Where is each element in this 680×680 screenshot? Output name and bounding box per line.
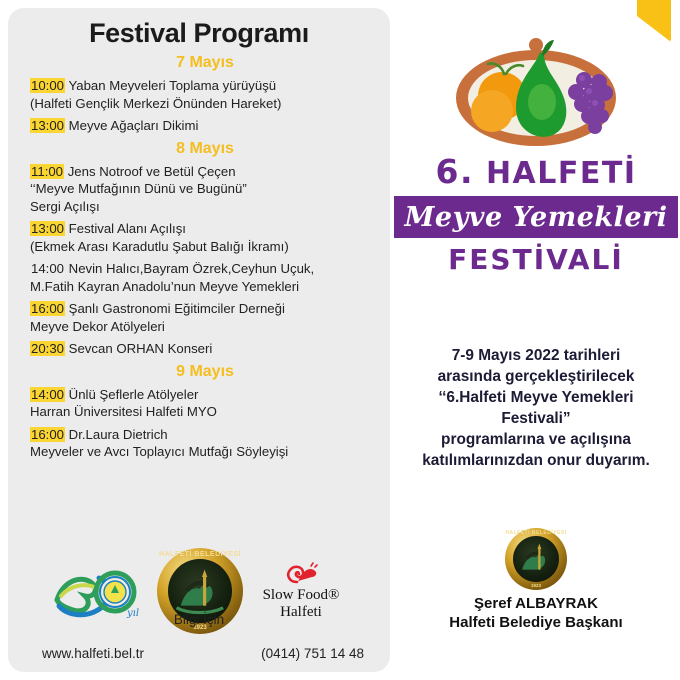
entry-time: 11:00 xyxy=(30,164,64,179)
entry-time: 16:00 xyxy=(30,427,65,442)
signatory-role: Halfeti Belediye Başkanı xyxy=(392,613,680,632)
program-line: 16:00 Dr.Laura Dietrich xyxy=(30,426,380,444)
entry-text: Jens Notroof ve Betül Çeçen xyxy=(64,164,236,179)
program-line: 14:00 Ünlü Şeflerle Atölyeler xyxy=(30,386,380,404)
snail-icon xyxy=(284,562,318,585)
invitation-line: katılımlarınızdan onur duyarım. xyxy=(398,450,674,471)
program-entry: 14:00 Nevin Halıcı,Bayram Özrek,Ceyhun U… xyxy=(30,260,380,295)
invitation-line: arasında gerçekleştirilecek xyxy=(398,366,674,387)
festival-branding-column: 6. HALFETİ Meyve Yemekleri FESTİVALİ 7-9… xyxy=(392,0,680,680)
program-line: M.Fatih Kayran Anadolu’nun Meyve Yemekle… xyxy=(30,278,380,296)
program-entry: 10:00 Yaban Meyveleri Toplama yürüyüşü(H… xyxy=(30,77,380,112)
program-panel: Festival Programı 7 Mayıs10:00 Yaban Mey… xyxy=(8,8,390,672)
program-line: Sergi Açılışı xyxy=(30,198,380,216)
invitation-text: 7-9 Mayıs 2022 tarihleriarasında gerçekl… xyxy=(398,345,674,471)
entry-time: 14:00 xyxy=(30,261,65,276)
entry-text: Dr.Laura Dietrich xyxy=(65,427,168,442)
contact-row: www.halfeti.bel.tr (0414) 751 14 48 xyxy=(8,646,390,661)
program-line: 10:00 Yaban Meyveleri Toplama yürüyüşü xyxy=(30,77,380,95)
entry-time: 16:00 xyxy=(30,301,65,316)
program-line: (Ekmek Arası Karadutlu Şabut Balığı İkra… xyxy=(30,238,380,256)
program-entry: 16:00 Dr.Laura Dietrich Meyveler ve Avcı… xyxy=(30,426,380,461)
signatory-name: Şeref ALBAYRAK xyxy=(392,594,680,613)
program-line: Harran Üniversitesi Halfeti MYO xyxy=(30,403,380,421)
bilgi-icin-label: Bilgi İçin xyxy=(8,612,390,627)
entry-text: Şanlı Gastronomi Eğitimciler Derneği xyxy=(65,301,285,316)
festival-edition-title: 6. HALFETİ xyxy=(392,152,680,191)
seal-top-text: HALFETİ BELEDİYESİ xyxy=(157,551,243,558)
entry-text: Sevcan ORHAN Konseri xyxy=(65,341,212,356)
entry-text: Ünlü Şeflerle Atölyeler xyxy=(65,387,198,402)
program-line: 11:00 Jens Notroof ve Betül Çeçen xyxy=(30,163,380,181)
signature-municipality-seal-icon: HALFETİ BELEDİYESİ 1923 xyxy=(505,528,567,590)
fruit-bowl-icon xyxy=(444,36,629,154)
program-entry: 14:00 Ünlü Şeflerle AtölyelerHarran Üniv… xyxy=(30,386,380,421)
entry-time: 20:30 xyxy=(30,341,65,356)
entry-time: 13:00 xyxy=(30,118,65,133)
program-line: 14:00 Nevin Halıcı,Bayram Özrek,Ceyhun U… xyxy=(30,260,380,278)
banner-text: Meyve Yemekleri xyxy=(405,202,668,233)
signature-seal-year: 1923 xyxy=(505,583,567,588)
program-line: 16:00 Şanlı Gastronomi Eğitimciler Derne… xyxy=(30,300,380,318)
entry-text: Meyve Ağaçları Dikimi xyxy=(65,118,198,133)
day-heading: 9 Mayıs xyxy=(30,363,380,381)
edition-number: 6. xyxy=(435,152,474,191)
program-entry: 13:00 Meyve Ağaçları Dikimi xyxy=(30,117,380,135)
phone-number[interactable]: (0414) 751 14 48 xyxy=(261,646,364,661)
program-line: 13:00 Meyve Ağaçları Dikimi xyxy=(30,117,380,135)
program-entry: 20:30 Sevcan ORHAN Konseri xyxy=(30,340,380,358)
program-list: 7 Mayıs10:00 Yaban Meyveleri Toplama yür… xyxy=(8,54,390,461)
page-title: Festival Programı xyxy=(8,8,390,49)
slowfood-line1: Slow Food® xyxy=(253,587,349,604)
signature-block: Şeref ALBAYRAK Halfeti Belediye Başkanı xyxy=(392,594,680,632)
program-entry: 16:00 Şanlı Gastronomi Eğitimciler Derne… xyxy=(30,300,380,335)
signature-seal-top-text: HALFETİ BELEDİYESİ xyxy=(505,530,567,536)
day-heading: 7 Mayıs xyxy=(30,54,380,72)
entry-time: 13:00 xyxy=(30,221,65,236)
halfeti-word: HALFETİ xyxy=(486,156,637,191)
invitation-line: Festivali” xyxy=(398,408,674,429)
invitation-line: 7-9 Mayıs 2022 tarihleri xyxy=(398,345,674,366)
entry-text: Yaban Meyveleri Toplama yürüyüşü xyxy=(65,78,276,93)
program-line: Meyve Dekor Atölyeleri xyxy=(30,318,380,336)
meyve-yemekleri-banner: Meyve Yemekleri xyxy=(394,196,678,238)
program-line: (Halfeti Gençlik Merkezi Önünden Hareket… xyxy=(30,95,380,113)
entry-text: Nevin Halıcı,Bayram Özrek,Ceyhun Uçuk, xyxy=(65,261,314,276)
day-heading: 8 Mayıs xyxy=(30,140,380,158)
entry-time: 14:00 xyxy=(30,387,65,402)
program-entry: 13:00 Festival Alanı Açılışı(Ekmek Arası… xyxy=(30,220,380,255)
invitation-line: ‘‘6.Halfeti Meyve Yemekleri xyxy=(398,387,674,408)
program-line: 13:00 Festival Alanı Açılışı xyxy=(30,220,380,238)
festivali-word: FESTİVALİ xyxy=(392,243,680,276)
entry-text: Festival Alanı Açılışı xyxy=(65,221,186,236)
website-link[interactable]: www.halfeti.bel.tr xyxy=(42,646,144,661)
program-line: Meyveler ve Avcı Toplayıcı Mutfağı Söyle… xyxy=(30,443,380,461)
entry-time: 10:00 xyxy=(30,78,65,93)
program-line: 20:30 Sevcan ORHAN Konseri xyxy=(30,340,380,358)
program-entry: 11:00 Jens Notroof ve Betül Çeçen‘‘Meyve… xyxy=(30,163,380,216)
program-line: ‘‘Meyve Mutfağının Dünü ve Bugünü” xyxy=(30,180,380,198)
invitation-line: programlarına ve açılışına xyxy=(398,429,674,450)
